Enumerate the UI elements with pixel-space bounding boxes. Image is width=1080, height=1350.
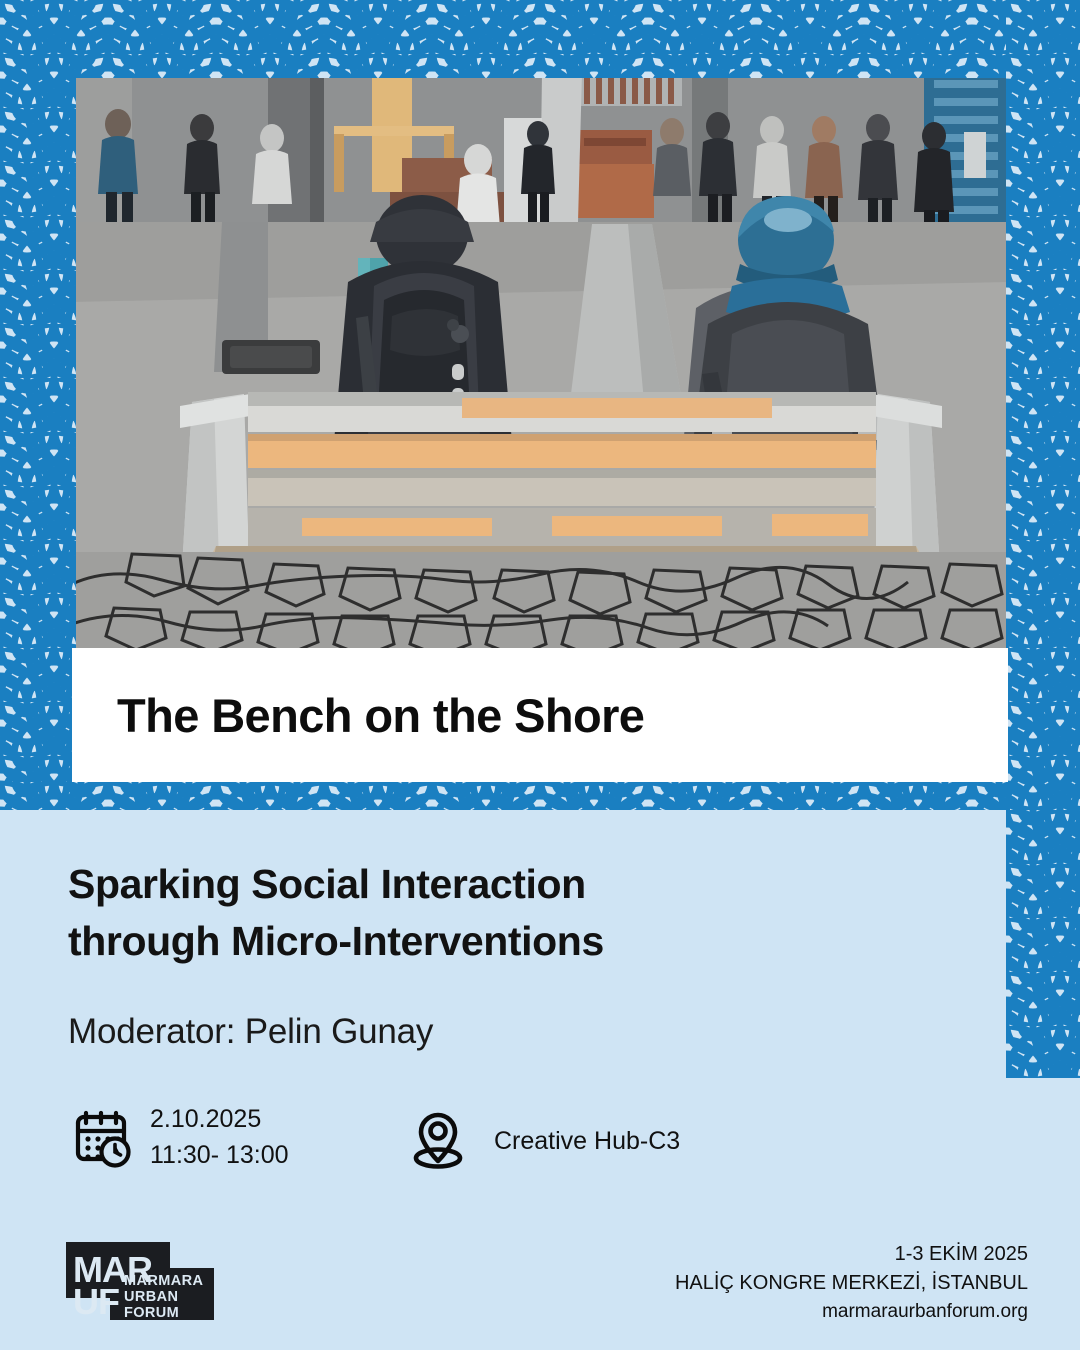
moderator-label: Moderator: Pelin Gunay (68, 1012, 828, 1052)
page-title: The Bench on the Shore (117, 692, 644, 739)
maruf-logo: MAR UF MARMARA URBAN FORUM (66, 1242, 214, 1320)
svg-text:UF: UF (73, 1281, 119, 1320)
event-photo (72, 72, 1008, 648)
wave-pattern-right (1006, 0, 1080, 1078)
title-band: The Bench on the Shore (72, 648, 1008, 782)
meta-date-item: 2.10.2025 11:30- 13:00 (70, 1102, 289, 1173)
wave-pattern-left (0, 0, 76, 808)
bench-photo-illustration (72, 72, 1008, 648)
footer-dates: 1-3 EKİM 2025 (675, 1240, 1028, 1269)
svg-text:FORUM: FORUM (124, 1305, 179, 1320)
session-meta-row: 2.10.2025 11:30- 13:00 Creative Hub-C3 (70, 1102, 970, 1192)
poster-canvas: The Bench on the Shore Sparking Social I… (0, 0, 1080, 1350)
headline-line-1: Sparking Social Interaction (68, 856, 828, 913)
footer-website[interactable]: marmaraurbanforum.org (675, 1298, 1028, 1325)
footer-info: 1-3 EKİM 2025 HALİÇ KONGRE MERKEZİ, İSTA… (675, 1240, 1028, 1325)
event-time: 11:30- 13:00 (150, 1138, 289, 1174)
event-date: 2.10.2025 (150, 1102, 289, 1138)
svg-text:MARMARA: MARMARA (124, 1273, 203, 1289)
session-headline: Sparking Social Interaction through Micr… (68, 856, 828, 969)
wave-pattern-under-title (0, 782, 1010, 810)
map-pin-icon (408, 1110, 468, 1172)
event-location: Creative Hub-C3 (494, 1127, 680, 1156)
calendar-clock-icon (70, 1107, 132, 1169)
wave-pattern-top (0, 0, 1080, 78)
meta-date-text: 2.10.2025 11:30- 13:00 (150, 1102, 289, 1173)
svg-text:URBAN: URBAN (124, 1289, 178, 1305)
footer-venue: HALİÇ KONGRE MERKEZİ, İSTANBUL (675, 1269, 1028, 1298)
meta-location-item: Creative Hub-C3 (408, 1110, 680, 1172)
headline-line-2: through Micro-Interventions (68, 913, 828, 970)
